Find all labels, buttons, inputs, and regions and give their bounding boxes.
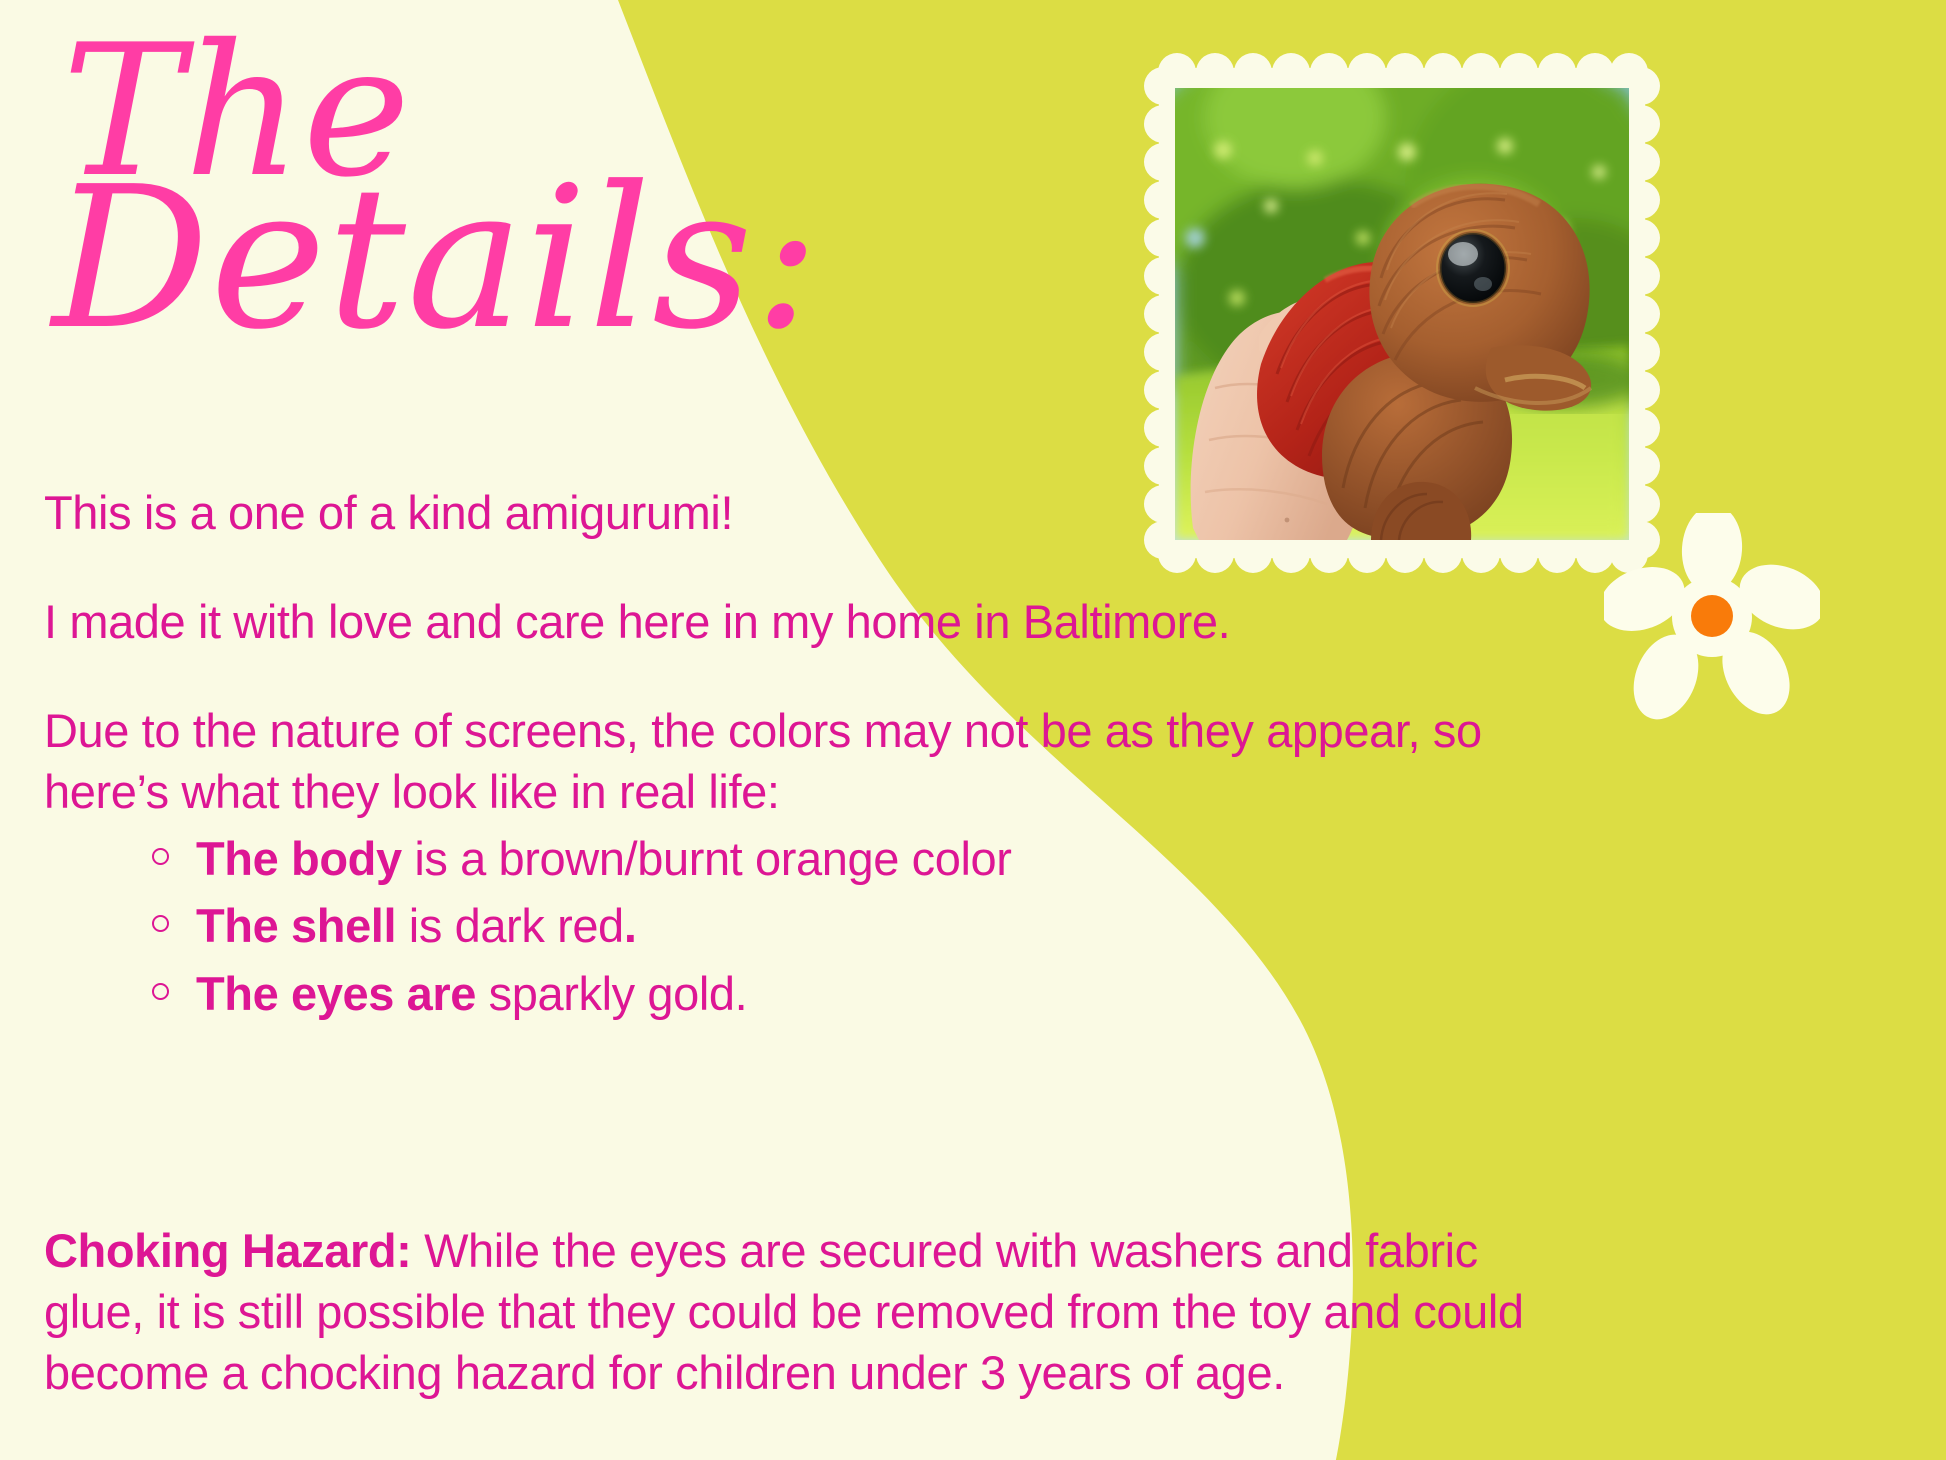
bullet-label: The body bbox=[196, 832, 402, 885]
daisy-flower-icon bbox=[1604, 513, 1820, 723]
body-copy: This is a one of a kind amigurumi! I mad… bbox=[44, 482, 1514, 1030]
page-title: The Details: bbox=[52, 28, 912, 350]
intro-paragraph: This is a one of a kind amigurumi! bbox=[44, 482, 1514, 543]
list-item: The eyes are sparkly gold. bbox=[152, 963, 1514, 1024]
screens-note-line-1: Due to the nature of screens, the colors… bbox=[44, 704, 1482, 757]
hollow-circle-bullet-icon bbox=[152, 848, 169, 865]
bullet-label: The shell bbox=[196, 899, 396, 952]
choking-hazard-paragraph: Choking Hazard: While the eyes are secur… bbox=[44, 1220, 1524, 1403]
choking-hazard-label: Choking Hazard: bbox=[44, 1224, 411, 1277]
product-photo bbox=[1175, 88, 1629, 540]
bullet-text: is a brown/burnt orange color bbox=[402, 832, 1012, 885]
list-item: The shell is dark red. bbox=[152, 895, 1514, 956]
slide-canvas: The Details: bbox=[0, 0, 1946, 1460]
color-bullet-list: The body is a brown/burnt orange color T… bbox=[44, 828, 1514, 1023]
screens-note-line-2: here’s what they look like in real life: bbox=[44, 765, 780, 818]
list-item: The body is a brown/burnt orange color bbox=[152, 828, 1514, 889]
bullet-label: The eyes are bbox=[196, 967, 476, 1020]
bullet-text: sparkly gold. bbox=[476, 967, 747, 1020]
bullet-text: is dark red bbox=[396, 899, 624, 952]
page-title-line-2: Details: bbox=[52, 169, 912, 349]
screens-note-paragraph: Due to the nature of screens, the colors… bbox=[44, 700, 1514, 822]
hollow-circle-bullet-icon bbox=[152, 983, 169, 1000]
made-with-love-paragraph: I made it with love and care here in my … bbox=[44, 591, 1514, 652]
hollow-circle-bullet-icon bbox=[152, 915, 169, 932]
bullet-tail: . bbox=[624, 899, 637, 952]
